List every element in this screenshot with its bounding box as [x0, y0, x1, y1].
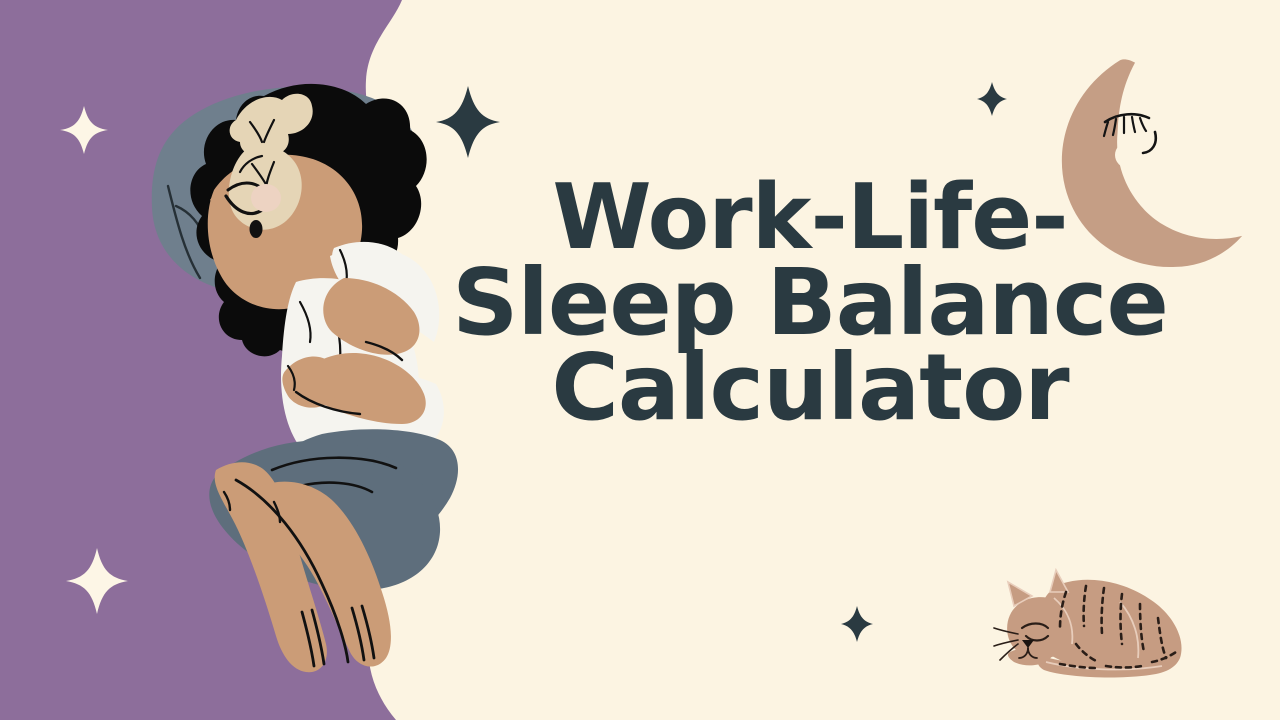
- star-dark-small-bottom: [841, 606, 873, 642]
- open-mouth: [250, 220, 263, 238]
- sleeping-crescent-moon: [1038, 42, 1246, 291]
- star-dark-large: [436, 86, 500, 158]
- star-cream-bottom-left: [66, 548, 128, 614]
- star-dark-small-top: [977, 82, 1007, 116]
- moon-smile: [1143, 132, 1156, 153]
- blush: [251, 184, 281, 212]
- sleeping-woman-illustration: [152, 84, 458, 672]
- artwork-layer: [0, 0, 1280, 720]
- poster-canvas: Work-Life- Sleep Balance Calculator: [0, 0, 1280, 720]
- star-cream-top-left: [60, 106, 108, 154]
- sleeping-cat: [994, 570, 1182, 677]
- moon-crater: [1115, 142, 1141, 168]
